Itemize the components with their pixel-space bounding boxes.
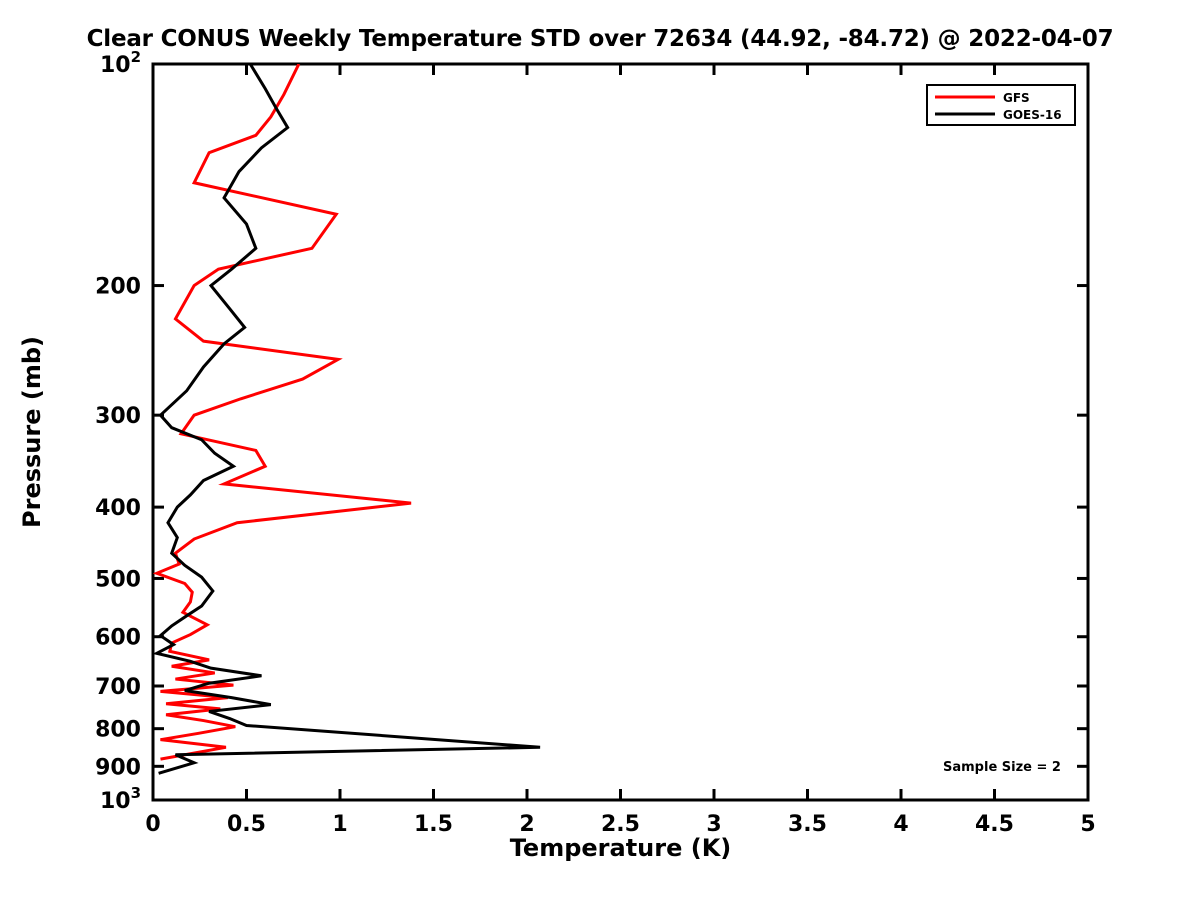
axes-frame [153,64,1088,800]
y-tick-label: 400 [95,496,141,521]
data-series-gfs [157,64,411,759]
x-tick-label: 4.5 [975,812,1014,837]
x-tick-label: 1 [332,812,347,837]
legend: GFSGOES-16 [927,85,1075,125]
y-tick-label: 500 [95,567,141,592]
annotation-group: Sample Size = 2 [943,760,1061,775]
x-tick-label: 3.5 [788,812,827,837]
data-series-group [157,64,540,773]
y-tick-label: 300 [95,404,141,429]
y-tick-label: 200 [95,275,141,300]
x-tick-label: 5 [1080,812,1095,837]
x-axis-title: Temperature (K) [510,834,732,862]
y-tick-label: 800 [95,718,141,743]
y-tick-label: 700 [95,675,141,700]
figure-container: Clear CONUS Weekly Temperature STD over … [0,0,1200,900]
sample-size-annotation: Sample Size = 2 [943,760,1061,775]
chart-canvas: 00.511.522.533.544.55 102200300400500600… [0,0,1200,900]
y-tick-label: 102 [100,48,141,78]
x-tick-label: 1.5 [414,812,453,837]
y-tick-label: 103 [100,784,141,814]
x-tick-label: 4 [893,812,908,837]
data-series-goes-16 [157,64,540,773]
x-tick-label: 0.5 [227,812,266,837]
y-axis-title: Pressure (mb) [18,336,46,528]
y-tick-label: 900 [95,755,141,780]
legend-label-gfs: GFS [1003,91,1030,105]
legend-label-goes-16: GOES-16 [1003,108,1062,122]
x-axis-ticks: 00.511.522.533.544.55 [145,64,1095,837]
x-tick-label: 0 [145,812,160,837]
y-tick-label: 600 [95,626,141,651]
